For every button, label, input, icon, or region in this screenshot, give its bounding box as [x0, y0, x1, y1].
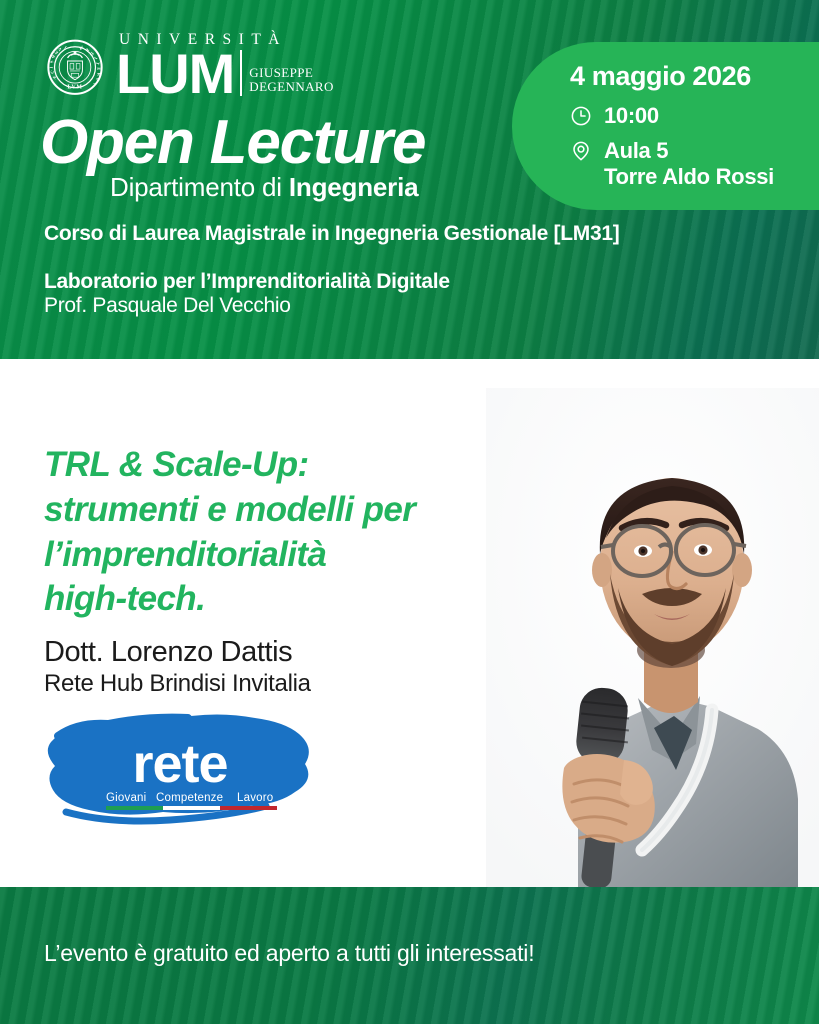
- logo-wordmark: UNIVERSITÀ LUM GIUSEPPE DEGENNARO: [116, 32, 334, 98]
- logo-lum-word: LUM: [116, 49, 234, 98]
- university-logo: A C I S R E V I M E D I T E R R A: [44, 32, 334, 98]
- department-line: Dipartimento di Ingegneria: [110, 172, 418, 203]
- map-pin-icon: [570, 140, 592, 162]
- flag-bar-red: [220, 806, 277, 810]
- rete-tagline-competenze: Competenze: [156, 792, 223, 804]
- speaker-photo: [486, 388, 819, 888]
- rete-logo: rete Giovani Competenze Lavoro: [44, 706, 312, 832]
- footer-note: L’evento è gratuito ed aperto a tutti gl…: [44, 940, 534, 967]
- rete-tagline-giovani: Giovani: [106, 792, 146, 804]
- logo-giuseppe-degennaro: GIUSEPPE DEGENNARO: [249, 66, 333, 98]
- svg-text:E: E: [96, 67, 101, 70]
- svg-text:M: M: [78, 45, 85, 52]
- event-location: Aula 5 Torre Aldo Rossi: [604, 138, 774, 190]
- speaker-organization: Rete Hub Brindisi Invitalia: [44, 670, 311, 698]
- speaker-photo-illustration: [486, 388, 819, 888]
- schedule-panel: 4 maggio 2026 10:00 Aula 5 Torre Aldo Ro…: [512, 42, 819, 210]
- event-type-title: Open Lecture: [40, 112, 425, 174]
- rete-wordmark: rete: [132, 734, 227, 794]
- clock-icon: [570, 105, 592, 127]
- svg-text:I: I: [49, 66, 54, 68]
- university-seal-icon: A C I S R E V I M E D I T E R R A: [44, 35, 106, 97]
- talk-title: TRL & Scale-Up: strumenti e modelli per …: [44, 443, 514, 622]
- svg-text:I: I: [63, 45, 68, 50]
- svg-text:C: C: [49, 70, 55, 74]
- svg-text:E: E: [84, 47, 90, 53]
- event-time: 10:00: [604, 103, 659, 129]
- flag-bar-green: [106, 806, 163, 810]
- svg-text:LVM: LVM: [67, 84, 82, 90]
- department-name: Ingegneria: [289, 172, 418, 202]
- rete-tagline-lavoro: Lavoro: [237, 792, 273, 804]
- flag-bar-white: [163, 806, 220, 810]
- lab-line: Laboratorio per l’Imprenditorialità Digi…: [44, 270, 450, 294]
- speaker-name: Dott. Lorenzo Dattis: [44, 636, 292, 669]
- professor-line: Prof. Pasquale Del Vecchio: [44, 294, 291, 318]
- course-line: Corso di Laurea Magistrale in Ingegneria…: [44, 222, 619, 246]
- event-time-row: 10:00: [570, 103, 819, 129]
- event-date: 4 maggio 2026: [570, 63, 819, 90]
- event-location-row: Aula 5 Torre Aldo Rossi: [570, 138, 819, 190]
- logo-divider: [240, 50, 242, 96]
- event-poster: A C I S R E V I M E D I T E R R A: [0, 0, 819, 1024]
- department-prefix: Dipartimento di: [110, 172, 289, 202]
